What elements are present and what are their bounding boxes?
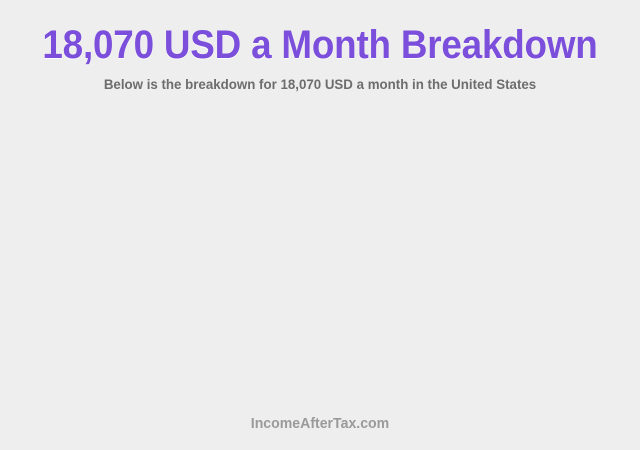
watermark-label: IncomeAfterTax.com <box>19 415 621 433</box>
chart-subtitle: Below is the breakdown for 18,070 USD a … <box>16 67 624 93</box>
chart-footer: IncomeAfterTax.com <box>0 415 640 433</box>
chart-page: 18,070 USD a Month Breakdown Below is th… <box>0 0 640 450</box>
chart-header: 18,070 USD a Month Breakdown Below is th… <box>0 0 640 93</box>
chart-plot-area <box>0 118 640 408</box>
page-title: 18,070 USD a Month Breakdown <box>26 0 615 67</box>
